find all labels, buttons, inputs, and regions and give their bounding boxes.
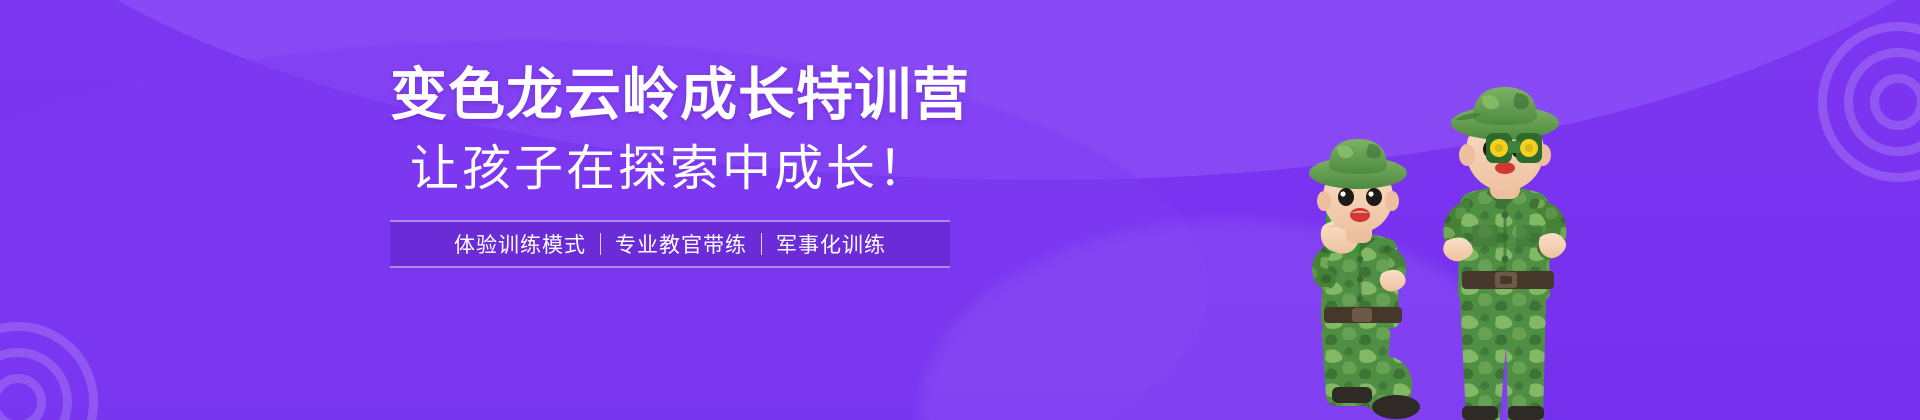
promo-banner: 变色龙云岭成长特训营 让孩子在探索中成长！ 体验训练模式 专业教官带练 军事化训… xyxy=(0,0,1920,420)
two-camouflage-kids-illustration xyxy=(1290,75,1620,420)
standing-kid-with-binoculars xyxy=(1443,87,1566,420)
banner-subtitle: 让孩子在探索中成长！ xyxy=(390,140,950,198)
banner-copy: 变色龙云岭成长特训营 让孩子在探索中成长！ 体验训练模式 专业教官带练 军事化训… xyxy=(390,62,950,268)
banner-title: 变色龙云岭成长特训营 xyxy=(390,62,950,128)
feature-bar: 体验训练模式 专业教官带练 军事化训练 xyxy=(390,220,950,268)
kneeling-kid-with-walkie-talkie xyxy=(1309,139,1420,419)
feature-item-1: 体验训练模式 xyxy=(440,229,600,259)
feature-item-3: 军事化训练 xyxy=(762,229,900,259)
feature-item-2: 专业教官带练 xyxy=(601,229,761,259)
